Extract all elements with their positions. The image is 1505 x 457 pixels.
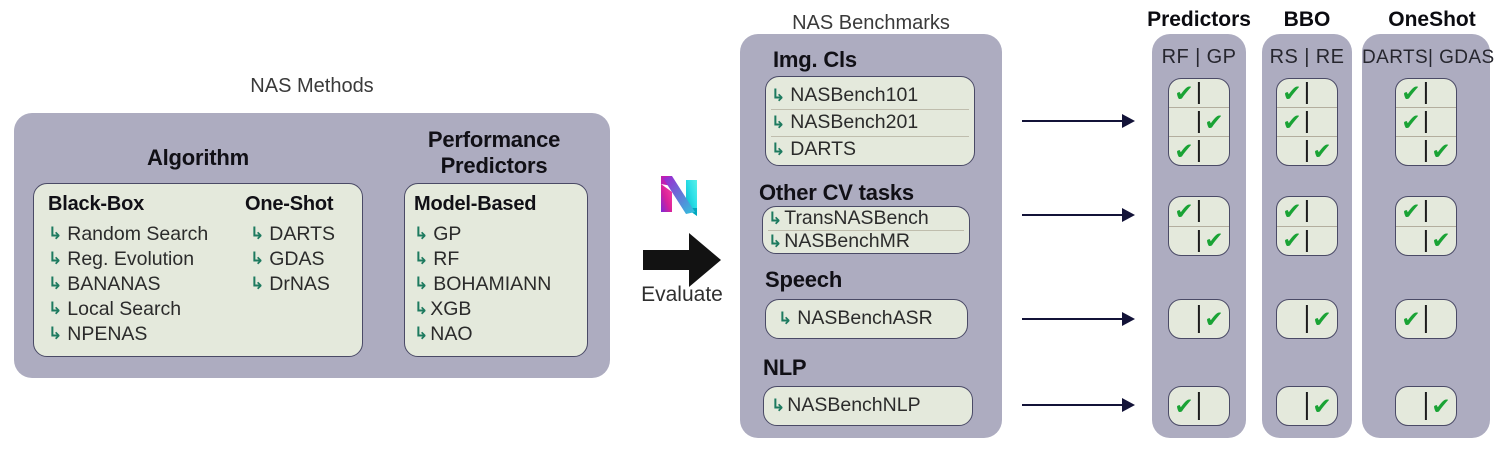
benchmark-heading-speech: Speech (765, 267, 842, 293)
performance-predictors-heading-line1: Performance (398, 127, 590, 153)
cell-right: ✔ (1307, 227, 1337, 256)
check-icon: ✔ (1174, 82, 1193, 105)
cell-right: ✔ (1307, 137, 1337, 165)
result-block-predictors-img-cls[interactable]: ✔ ✔ ✔ ✔ ✔ ✔ (1168, 78, 1230, 166)
results-pair-label-predictors: RF | GP (1152, 46, 1246, 69)
result-row[interactable]: ✔ ✔ (1396, 136, 1456, 165)
result-row[interactable]: ✔ ✔ (1396, 226, 1456, 256)
cell-right: ✔ (1426, 387, 1456, 425)
check-icon: ✔ (1312, 308, 1331, 331)
cell-left: ✔ (1277, 197, 1307, 226)
connector-arrow-img-cls (1022, 114, 1134, 128)
check-icon: ✔ (1282, 82, 1301, 105)
cell-right: ✔ (1199, 387, 1229, 425)
benchmark-list-nlp: ↳ NASBenchNLP (771, 386, 971, 426)
check-icon: ✔ (1282, 200, 1301, 223)
result-row[interactable]: ✔ ✔ (1396, 300, 1456, 338)
black-box-heading: Black-Box (48, 193, 144, 216)
bullet-arrow-icon: ↳ (771, 87, 785, 104)
list-item: ↳ NASBench201 (771, 110, 969, 136)
results-column-title-predictors: Predictors (1136, 8, 1262, 32)
cell-left: ✔ (1169, 79, 1199, 107)
results-pair-label-oneshot: DARTS| GDAS (1362, 47, 1490, 69)
connector-arrow-speech (1022, 312, 1134, 326)
row-divider-bar (1198, 200, 1200, 222)
cell-left: ✔ (1396, 79, 1426, 107)
check-icon: ✔ (1431, 229, 1450, 252)
check-icon: ✔ (1431, 395, 1450, 418)
cell-left: ✔ (1169, 300, 1199, 338)
cell-left: ✔ (1277, 108, 1307, 136)
row-divider-bar (1198, 392, 1200, 421)
list-item-label: GDAS (269, 250, 324, 270)
check-icon: ✔ (1282, 111, 1301, 134)
bullet-arrow-icon: ↳ (250, 275, 264, 292)
row-divider-bar (1425, 140, 1427, 161)
list-item-label: NAO (430, 325, 472, 345)
evaluate-arrow-icon (643, 233, 721, 287)
cell-left: ✔ (1396, 300, 1426, 338)
cell-left: ✔ (1396, 197, 1426, 226)
cell-right: ✔ (1307, 79, 1337, 107)
result-block-predictors-other-cv[interactable]: ✔ ✔ ✔ ✔ (1168, 196, 1230, 256)
cell-left: ✔ (1169, 197, 1199, 226)
bullet-arrow-icon: ↳ (48, 300, 62, 317)
check-icon: ✔ (1174, 395, 1193, 418)
result-block-oneshot-nlp[interactable]: ✔ ✔ (1395, 386, 1457, 426)
bullet-arrow-icon: ↳ (48, 225, 62, 242)
bullet-arrow-icon: ↳ (414, 225, 428, 242)
row-divider-bar (1198, 82, 1200, 103)
cell-right: ✔ (1307, 387, 1337, 425)
row-divider-bar (1306, 392, 1308, 421)
list-item-label: NASBenchNLP (787, 396, 920, 416)
row-divider-bar (1425, 111, 1427, 132)
cell-left: ✔ (1396, 137, 1426, 165)
cell-right: ✔ (1199, 108, 1229, 136)
row-divider-bar (1425, 392, 1427, 421)
list-item: ↳ Local Search (48, 297, 208, 322)
bullet-arrow-icon: ↳ (250, 225, 264, 242)
list-item: ↳ NPENAS (48, 322, 208, 347)
cell-left: ✔ (1396, 108, 1426, 136)
list-item-label: Reg. Evolution (67, 250, 194, 270)
list-item: ↳ XGB (414, 297, 551, 322)
list-item-label: GP (433, 225, 461, 245)
benchmark-list-other-cv: ↳ TransNASBench ↳ NASBenchMR (768, 208, 964, 253)
cell-right: ✔ (1307, 300, 1337, 338)
cell-left: ✔ (1277, 79, 1307, 107)
result-block-bbo-img-cls[interactable]: ✔ ✔ ✔ ✔ ✔ ✔ (1276, 78, 1338, 166)
performance-predictors-heading-line2: Predictors (398, 153, 590, 179)
cell-left: ✔ (1277, 227, 1307, 256)
one-shot-list: ↳ DARTS ↳ GDAS ↳ DrNAS (250, 222, 335, 297)
algorithm-heading: Algorithm (33, 145, 363, 171)
check-icon: ✔ (1401, 82, 1420, 105)
cell-right: ✔ (1426, 79, 1456, 107)
row-divider-bar (1306, 230, 1308, 252)
bullet-arrow-icon: ↳ (414, 300, 428, 317)
cell-left: ✔ (1169, 108, 1199, 136)
check-icon: ✔ (1401, 200, 1420, 223)
bullet-arrow-icon: ↳ (771, 141, 785, 158)
results-pair-label-bbo: RS | RE (1262, 46, 1352, 69)
result-row[interactable]: ✔ ✔ (1169, 387, 1229, 425)
list-item: ↳ DARTS (771, 137, 969, 163)
list-item: ↳ NASBenchNLP (771, 386, 971, 426)
benchmark-heading-other-cv: Other CV tasks (759, 180, 914, 206)
list-item-label: NASBenchASR (797, 309, 932, 329)
model-based-heading: Model-Based (414, 193, 536, 216)
list-item: ↳ NASBenchASR (778, 299, 968, 339)
check-icon: ✔ (1174, 200, 1193, 223)
row-divider-bar (1198, 140, 1200, 161)
list-item-label: DARTS (790, 140, 856, 160)
cell-left: ✔ (1169, 137, 1199, 165)
row-divider-bar (1306, 305, 1308, 334)
row-divider-bar (1198, 305, 1200, 334)
connector-arrow-other-cv (1022, 208, 1134, 222)
result-row[interactable]: ✔ ✔ (1277, 387, 1337, 425)
check-icon: ✔ (1312, 140, 1331, 163)
list-divider (768, 230, 964, 231)
cell-right: ✔ (1307, 197, 1337, 226)
row-divider-bar (1425, 82, 1427, 103)
list-item: ↳ DARTS (250, 222, 335, 247)
results-column-title-bbo: BBO (1258, 8, 1356, 32)
cell-right: ✔ (1199, 300, 1229, 338)
model-based-list: ↳ GP ↳ RF ↳ BOHAMIANN ↳ XGB ↳ NAO (414, 222, 551, 347)
bullet-arrow-icon: ↳ (48, 275, 62, 292)
cell-right: ✔ (1199, 79, 1229, 107)
nas-methods-title: NAS Methods (14, 75, 610, 98)
result-row[interactable]: ✔ ✔ (1169, 226, 1229, 256)
naslib-logo (655, 172, 703, 220)
row-divider-bar (1425, 230, 1427, 252)
check-icon: ✔ (1204, 308, 1223, 331)
list-item: ↳ BOHAMIANN (414, 272, 551, 297)
result-block-oneshot-other-cv[interactable]: ✔ ✔ ✔ ✔ (1395, 196, 1457, 256)
list-item: ↳ BANANAS (48, 272, 208, 297)
row-divider-bar (1306, 200, 1308, 222)
cell-right: ✔ (1199, 227, 1229, 256)
result-block-predictors-speech[interactable]: ✔ ✔ (1168, 299, 1230, 339)
result-row[interactable]: ✔ ✔ (1277, 136, 1337, 165)
diagram-canvas: NAS Methods Algorithm Performance Predic… (0, 0, 1505, 457)
bullet-arrow-icon: ↳ (768, 210, 782, 227)
row-divider-bar (1198, 230, 1200, 252)
cell-left: ✔ (1277, 387, 1307, 425)
check-icon: ✔ (1401, 111, 1420, 134)
list-item: ↳ NAO (414, 322, 551, 347)
list-item-label: NASBench101 (790, 86, 918, 106)
list-item: ↳ Reg. Evolution (48, 247, 208, 272)
result-row[interactable]: ✔ ✔ (1396, 107, 1456, 136)
bullet-arrow-icon: ↳ (48, 325, 62, 342)
list-item-label: Local Search (67, 300, 181, 320)
bullet-arrow-icon: ↳ (48, 250, 62, 267)
result-block-oneshot-speech[interactable]: ✔ ✔ (1395, 299, 1457, 339)
list-item-label: BANANAS (67, 275, 160, 295)
result-row[interactable]: ✔ ✔ (1169, 79, 1229, 107)
list-item-label: NASBenchMR (784, 232, 910, 252)
list-item: ↳ DrNAS (250, 272, 335, 297)
result-block-bbo-other-cv[interactable]: ✔ ✔ ✔ ✔ (1276, 196, 1338, 256)
row-divider-bar (1306, 82, 1308, 103)
check-icon: ✔ (1174, 140, 1193, 163)
cell-right: ✔ (1307, 108, 1337, 136)
check-icon: ✔ (1312, 395, 1331, 418)
cell-right: ✔ (1199, 197, 1229, 226)
bullet-arrow-icon: ↳ (414, 250, 428, 267)
row-divider-bar (1198, 111, 1200, 132)
cell-left: ✔ (1277, 300, 1307, 338)
list-item: ↳ NASBenchMR (768, 231, 964, 253)
result-row[interactable]: ✔ ✔ (1277, 197, 1337, 226)
check-icon: ✔ (1204, 229, 1223, 252)
cell-left: ✔ (1169, 387, 1199, 425)
list-item-label: DrNAS (269, 275, 330, 295)
bullet-arrow-icon: ↳ (414, 325, 428, 342)
result-row[interactable]: ✔ ✔ (1396, 79, 1456, 107)
bullet-arrow-icon: ↳ (250, 250, 264, 267)
list-item: ↳ GP (414, 222, 551, 247)
result-block-predictors-nlp[interactable]: ✔ ✔ (1168, 386, 1230, 426)
row-divider-bar (1425, 200, 1427, 222)
benchmark-heading-nlp: NLP (763, 355, 806, 381)
one-shot-heading: One-Shot (245, 193, 333, 216)
cell-left: ✔ (1277, 137, 1307, 165)
bullet-arrow-icon: ↳ (771, 397, 785, 414)
bullet-arrow-icon: ↳ (414, 275, 428, 292)
cell-right: ✔ (1426, 197, 1456, 226)
bullet-arrow-icon: ↳ (771, 114, 785, 131)
result-row[interactable]: ✔ ✔ (1396, 197, 1456, 226)
cell-left: ✔ (1396, 387, 1426, 425)
evaluate-caption: Evaluate (612, 283, 752, 307)
list-item: ↳ NASBench101 (771, 83, 969, 109)
result-row[interactable]: ✔ ✔ (1277, 226, 1337, 256)
cell-left: ✔ (1169, 227, 1199, 256)
check-icon: ✔ (1401, 308, 1420, 331)
row-divider-bar (1425, 305, 1427, 334)
list-item-label: BOHAMIANN (433, 275, 551, 295)
check-icon: ✔ (1282, 229, 1301, 252)
benchmark-heading-img-cls: Img. Cls (773, 47, 857, 73)
bullet-arrow-icon: ↳ (768, 233, 782, 250)
list-item: ↳ Random Search (48, 222, 208, 247)
row-divider-bar (1306, 140, 1308, 161)
result-row[interactable]: ✔ ✔ (1169, 107, 1229, 136)
check-icon: ✔ (1204, 111, 1223, 134)
list-item-label: XGB (430, 300, 471, 320)
list-item: ↳ GDAS (250, 247, 335, 272)
results-column-title-oneshot: OneShot (1368, 8, 1496, 32)
list-item: ↳ TransNASBench (768, 208, 964, 230)
connector-arrow-nlp (1022, 398, 1134, 412)
result-row[interactable]: ✔ ✔ (1277, 300, 1337, 338)
list-divider (771, 136, 969, 137)
nas-benchmarks-title: NAS Benchmarks (740, 12, 1002, 35)
list-divider (771, 109, 969, 110)
result-row[interactable]: ✔ ✔ (1169, 300, 1229, 338)
benchmark-list-img-cls: ↳ NASBench101 ↳ NASBench201 ↳ DARTS (771, 83, 969, 163)
black-box-list: ↳ Random Search ↳ Reg. Evolution ↳ BANAN… (48, 222, 208, 347)
list-item-label: RF (433, 250, 459, 270)
result-row[interactable]: ✔ ✔ (1277, 79, 1337, 107)
check-icon: ✔ (1431, 140, 1450, 163)
row-divider-bar (1306, 111, 1308, 132)
list-item-label: DARTS (269, 225, 335, 245)
result-block-bbo-speech[interactable]: ✔ ✔ (1276, 299, 1338, 339)
result-row[interactable]: ✔ ✔ (1277, 107, 1337, 136)
result-block-bbo-nlp[interactable]: ✔ ✔ (1276, 386, 1338, 426)
result-block-oneshot-img-cls[interactable]: ✔ ✔ ✔ ✔ ✔ ✔ (1395, 78, 1457, 166)
list-item-label: TransNASBench (784, 209, 929, 229)
list-item-label: NPENAS (67, 325, 147, 345)
result-row[interactable]: ✔ ✔ (1169, 136, 1229, 165)
result-row[interactable]: ✔ ✔ (1169, 197, 1229, 226)
cell-right: ✔ (1426, 137, 1456, 165)
cell-right: ✔ (1199, 137, 1229, 165)
bullet-arrow-icon: ↳ (778, 310, 792, 327)
cell-left: ✔ (1396, 227, 1426, 256)
cell-right: ✔ (1426, 108, 1456, 136)
list-item: ↳ RF (414, 247, 551, 272)
result-row[interactable]: ✔ ✔ (1396, 387, 1456, 425)
list-item-label: Random Search (67, 225, 208, 245)
benchmark-list-speech: ↳ NASBenchASR (778, 299, 968, 339)
list-item-label: NASBench201 (790, 113, 918, 133)
cell-right: ✔ (1426, 300, 1456, 338)
cell-right: ✔ (1426, 227, 1456, 256)
